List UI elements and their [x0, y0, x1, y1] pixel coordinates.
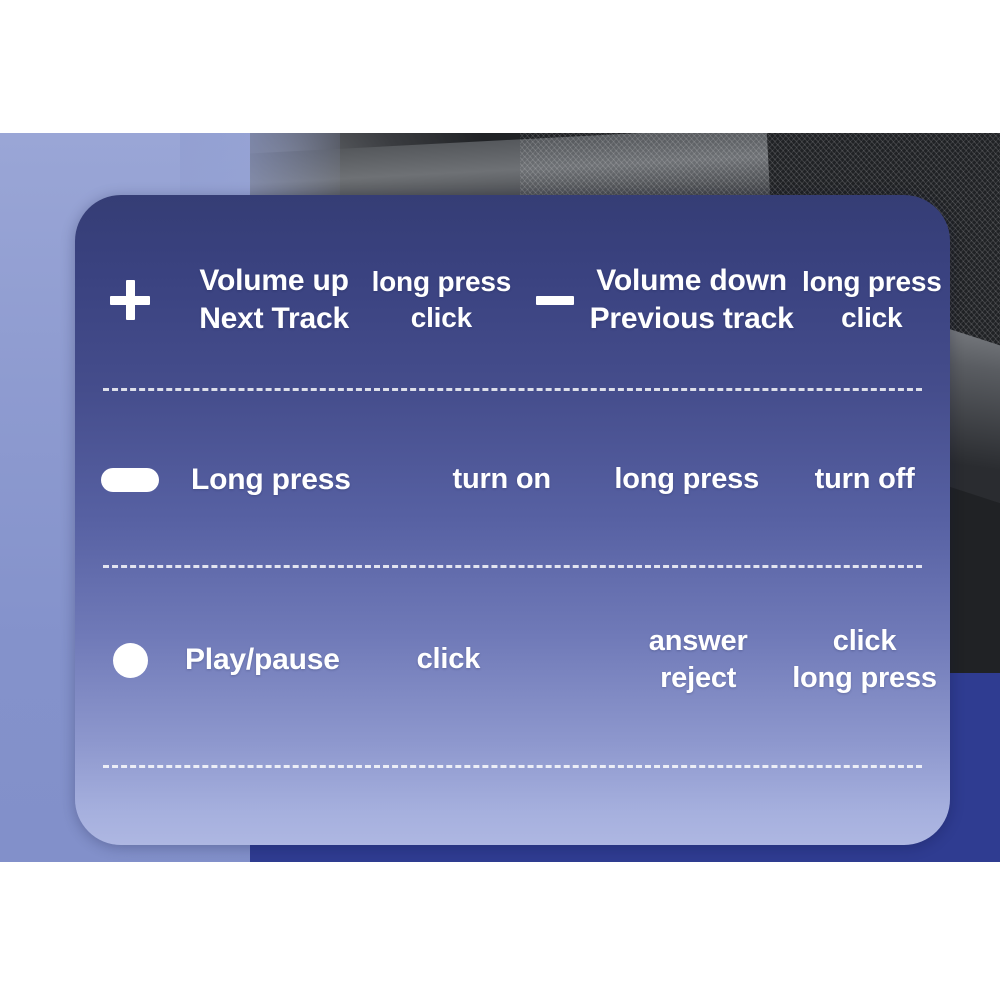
volume-up-action-line2: click [363, 300, 519, 336]
screenshot-stage: Volume up Next Track long press click Vo… [0, 0, 1000, 1000]
row-divider-2 [103, 565, 922, 568]
power-long-press-label: Long press [185, 461, 409, 499]
plus-icon[interactable] [110, 280, 150, 320]
call-reject-action: long press [779, 660, 950, 697]
volume-down-label: Volume down Previous track [590, 262, 794, 339]
call-answer-action: click [779, 623, 950, 660]
call-answer-label: answer [617, 623, 779, 660]
power-long-press-label-2: long press [594, 461, 779, 498]
volume-down-action-line1: long press [794, 264, 950, 300]
controls-card: Volume up Next Track long press click Vo… [75, 195, 950, 845]
power-turn-on-action: turn on [409, 461, 594, 498]
minus-icon-cell [520, 296, 590, 305]
call-label: answer reject [617, 623, 779, 697]
volume-down-line1: Volume down [590, 262, 794, 300]
volume-down-action-line2: click [794, 300, 950, 336]
minus-icon[interactable] [536, 296, 574, 305]
pill-toggle-icon[interactable] [101, 468, 159, 492]
circle-button-icon[interactable] [113, 643, 148, 678]
power-turn-off-action: turn off [779, 461, 950, 498]
volume-up-label: Volume up Next Track [185, 262, 363, 339]
play-pause-action: click [374, 641, 522, 678]
pill-toggle-icon-cell [75, 468, 185, 492]
play-pause-label: Play/pause [185, 641, 374, 679]
volume-row: Volume up Next Track long press click Vo… [75, 240, 950, 360]
power-row: Long press turn on long press turn off [75, 440, 950, 520]
plus-icon-cell [75, 280, 185, 320]
row-divider-3 [103, 765, 922, 768]
controls-rows: Volume up Next Track long press click Vo… [75, 195, 950, 845]
volume-up-action-line1: long press [363, 264, 519, 300]
circle-button-icon-cell [75, 643, 185, 678]
volume-down-action: long press click [794, 264, 950, 336]
row-divider-1 [103, 388, 922, 391]
playback-call-row: Play/pause click answer reject click lon… [75, 600, 950, 720]
volume-up-action: long press click [363, 264, 519, 336]
volume-up-line2: Next Track [185, 300, 363, 338]
call-reject-label: reject [617, 660, 779, 697]
volume-up-line1: Volume up [185, 262, 363, 300]
volume-down-line2: Previous track [590, 300, 794, 338]
call-action: click long press [779, 623, 950, 697]
